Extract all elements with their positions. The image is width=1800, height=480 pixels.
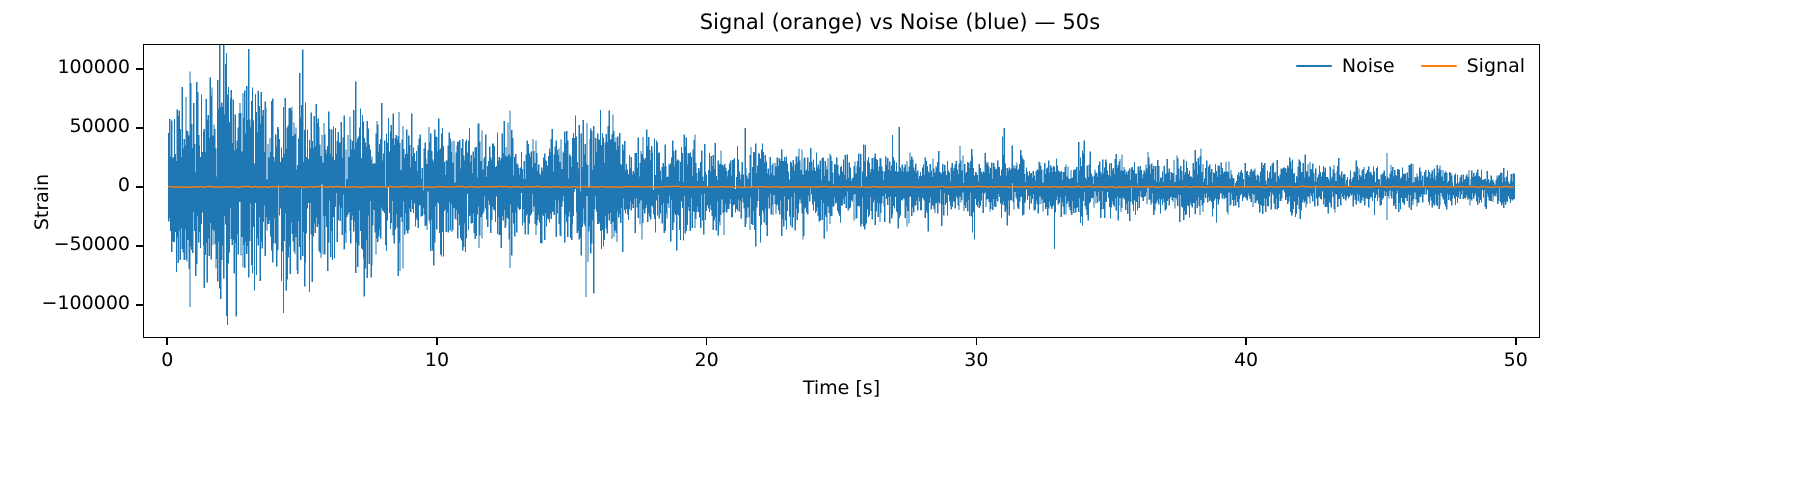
y-tick-mark xyxy=(136,304,143,306)
x-axis-label: Time [s] xyxy=(143,377,1540,399)
x-tick-mark xyxy=(976,338,978,345)
legend-label-noise: Noise xyxy=(1342,55,1395,77)
x-tick-label: 10 xyxy=(397,349,477,371)
legend-swatch-signal-icon xyxy=(1421,65,1457,68)
legend-swatch-noise-icon xyxy=(1296,65,1332,68)
x-tick-label: 40 xyxy=(1206,349,1286,371)
y-tick-mark xyxy=(136,245,143,247)
x-tick-mark xyxy=(706,338,708,345)
legend[interactable]: Noise Signal xyxy=(1290,53,1531,79)
y-axis-label: Strain xyxy=(31,142,53,262)
x-tick-mark xyxy=(1515,338,1517,345)
y-tick-mark xyxy=(136,127,143,129)
x-tick-mark xyxy=(1245,338,1247,345)
chart-title: Signal (orange) vs Noise (blue) — 50s xyxy=(0,10,1800,34)
y-tick-label: −100000 xyxy=(42,292,130,314)
y-tick-label: 0 xyxy=(118,174,130,196)
x-tick-label: 20 xyxy=(667,349,747,371)
x-tick-label: 0 xyxy=(127,349,207,371)
waveform-plot xyxy=(144,45,1539,337)
noise-waveform xyxy=(169,45,1515,325)
y-tick-label: 100000 xyxy=(57,56,130,78)
y-tick-label: −50000 xyxy=(54,233,130,255)
x-tick-mark xyxy=(166,338,168,345)
x-tick-label: 50 xyxy=(1476,349,1556,371)
y-tick-mark xyxy=(136,68,143,70)
legend-entry-signal[interactable]: Signal xyxy=(1421,55,1525,77)
noise-series xyxy=(169,45,1515,325)
legend-entry-noise[interactable]: Noise xyxy=(1296,55,1395,77)
y-tick-mark xyxy=(136,186,143,188)
legend-label-signal: Signal xyxy=(1467,55,1525,77)
x-tick-label: 30 xyxy=(936,349,1016,371)
x-tick-mark xyxy=(436,338,438,345)
plot-area[interactable]: Noise Signal xyxy=(143,44,1540,338)
figure-canvas: Signal (orange) vs Noise (blue) — 50s No… xyxy=(0,0,1800,480)
y-tick-label: 50000 xyxy=(70,115,130,137)
